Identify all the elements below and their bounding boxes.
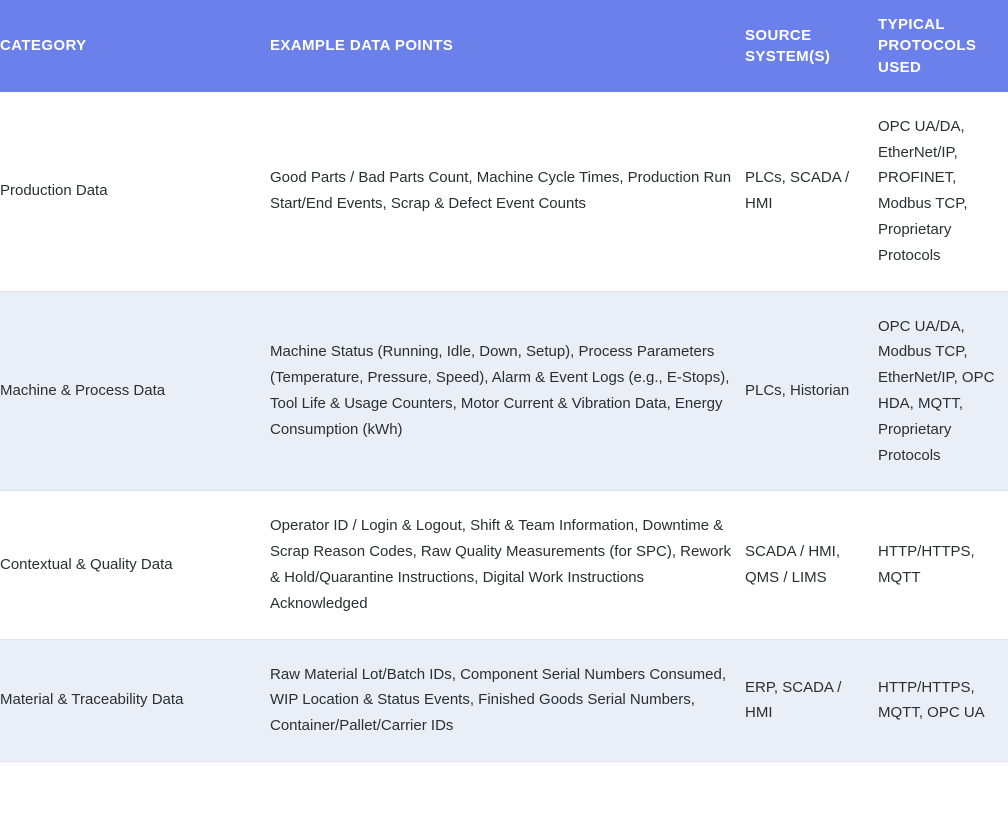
cell-category: Contextual & Quality Data <box>0 491 270 639</box>
cell-examples: Operator ID / Login & Logout, Shift & Te… <box>270 491 745 639</box>
cell-category: Material & Traceability Data <box>0 639 270 761</box>
column-header-typical-protocols-used: Typical Protocols Used <box>878 0 1008 92</box>
column-header-category: Category <box>0 0 270 92</box>
table-row: Production Data Good Parts / Bad Parts C… <box>0 92 1008 291</box>
cell-protocols: OPC UA/DA, EtherNet/IP, PROFINET, Modbus… <box>878 92 1008 291</box>
table-body: Production Data Good Parts / Bad Parts C… <box>0 92 1008 762</box>
table-row: Material & Traceability Data Raw Materia… <box>0 639 1008 761</box>
cell-source: SCADA / HMI, QMS / LIMS <box>745 491 878 639</box>
table-row: Contextual & Quality Data Operator ID / … <box>0 491 1008 639</box>
cell-protocols: HTTP/HTTPS, MQTT, OPC UA <box>878 639 1008 761</box>
column-header-example-data-points: Example Data Points <box>270 0 745 92</box>
cell-protocols: OPC UA/DA, Modbus TCP, EtherNet/IP, OPC … <box>878 291 1008 491</box>
cell-source: ERP, SCADA / HMI <box>745 639 878 761</box>
cell-source: PLCs, SCADA / HMI <box>745 92 878 291</box>
cell-examples: Raw Material Lot/Batch IDs, Component Se… <box>270 639 745 761</box>
cell-category: Production Data <box>0 92 270 291</box>
table-header: Category Example Data Points Source Syst… <box>0 0 1008 92</box>
cell-source: PLCs, Historian <box>745 291 878 491</box>
cell-category: Machine & Process Data <box>0 291 270 491</box>
cell-examples: Machine Status (Running, Idle, Down, Set… <box>270 291 745 491</box>
cell-examples: Good Parts / Bad Parts Count, Machine Cy… <box>270 92 745 291</box>
table-header-row: Category Example Data Points Source Syst… <box>0 0 1008 92</box>
column-header-source-systems: Source System(s) <box>745 0 878 92</box>
cell-protocols: HTTP/HTTPS, MQTT <box>878 491 1008 639</box>
table-row: Machine & Process Data Machine Status (R… <box>0 291 1008 491</box>
data-categories-table: Category Example Data Points Source Syst… <box>0 0 1008 762</box>
